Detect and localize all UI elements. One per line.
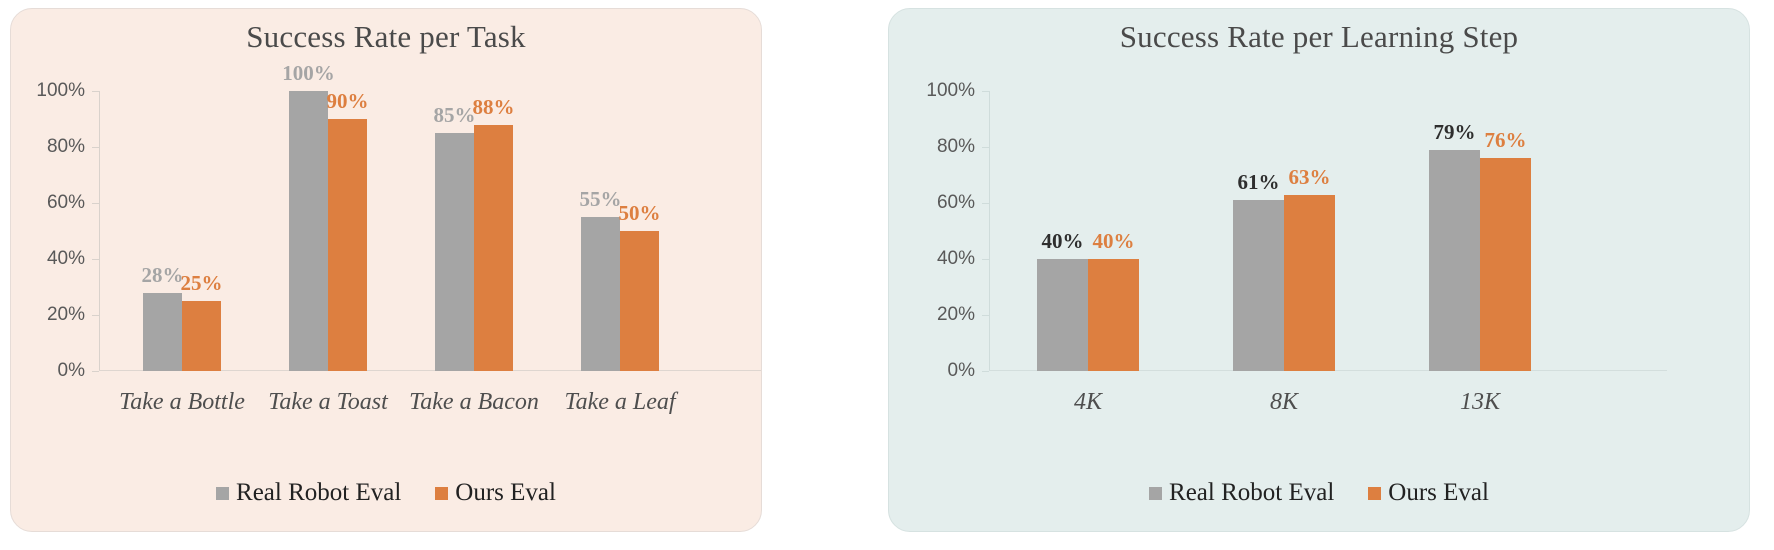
y-axis-tick [982, 371, 989, 372]
chart-panel-success-rate-per-learning-step: Success Rate per Learning Step 100%80%60… [888, 8, 1750, 532]
y-axis-tick [92, 203, 99, 204]
plot-area-left: 100%80%60%40%20%0%28%25%100%90%85%88%55%… [99, 91, 749, 371]
legend-right: Real Robot Eval Ours Eval [889, 479, 1749, 507]
bar-value-label: 61% [1238, 170, 1280, 195]
y-axis-tick-label: 100% [926, 80, 975, 102]
page-title-right: Success Rate per Learning Step [889, 19, 1749, 55]
legend-swatch-icon-ours [435, 487, 448, 500]
bar-ours [328, 119, 367, 371]
plot-area-right: 100%80%60%40%20%0%40%40%61%63%79%76% [989, 91, 1649, 371]
y-axis-tick-label: 0% [948, 360, 975, 382]
y-axis-tick [982, 203, 989, 204]
legend-item-real-robot-eval[interactable]: Real Robot Eval [216, 479, 401, 507]
bar-real [1233, 200, 1284, 371]
y-axis-line-right [989, 91, 990, 371]
y-axis-tick-label: 80% [47, 136, 85, 158]
bar-value-label: 25% [181, 271, 223, 296]
bar-real [289, 91, 328, 371]
bar-value-label: 100% [282, 61, 335, 86]
x-axis-category-label: 13K [1460, 389, 1500, 416]
y-axis-tick [92, 147, 99, 148]
y-axis-tick-label: 100% [36, 80, 85, 102]
y-axis-tick [982, 147, 989, 148]
bar-value-label: 79% [1434, 120, 1476, 145]
bar-value-label: 40% [1042, 229, 1084, 254]
y-axis-tick-label: 20% [47, 304, 85, 326]
legend-label-real: Real Robot Eval [1169, 479, 1334, 507]
x-axis-category-label: Take a Bottle [119, 389, 245, 416]
bar-value-label: 90% [327, 89, 369, 114]
bar-real [1429, 150, 1480, 371]
bar-real [143, 293, 182, 371]
y-axis-tick-label: 40% [47, 248, 85, 270]
bar-ours [474, 125, 513, 371]
bar-value-label: 76% [1485, 128, 1527, 153]
x-axis-category-label: 8K [1270, 389, 1298, 416]
bar-value-label: 85% [434, 103, 476, 128]
x-axis-category-label: Take a Leaf [564, 389, 675, 416]
legend-label-real: Real Robot Eval [236, 479, 401, 507]
legend-item-ours-eval[interactable]: Ours Eval [1368, 479, 1489, 507]
legend-swatch-icon-real [1149, 487, 1162, 500]
y-axis-tick [92, 315, 99, 316]
bar-ours [1480, 158, 1531, 371]
bar-ours [1088, 259, 1139, 371]
x-axis-category-label: Take a Toast [268, 389, 388, 416]
y-axis-tick [92, 371, 99, 372]
y-axis-tick-label: 60% [47, 192, 85, 214]
y-axis-tick [92, 91, 99, 92]
bar-value-label: 40% [1093, 229, 1135, 254]
bar-ours [1284, 195, 1335, 371]
legend-item-real-robot-eval[interactable]: Real Robot Eval [1149, 479, 1334, 507]
page-title-left: Success Rate per Task [11, 19, 761, 55]
y-axis-tick-label: 0% [58, 360, 85, 382]
y-axis-tick-label: 20% [937, 304, 975, 326]
legend-item-ours-eval[interactable]: Ours Eval [435, 479, 556, 507]
y-axis-tick [982, 91, 989, 92]
y-axis-tick [982, 315, 989, 316]
bar-real [581, 217, 620, 371]
legend-swatch-icon-real [216, 487, 229, 500]
figure-canvas: Success Rate per Task 100%80%60%40%20%0%… [0, 0, 1774, 550]
x-axis-category-label: 4K [1074, 389, 1102, 416]
y-axis-tick-label: 80% [937, 136, 975, 158]
legend-left: Real Robot Eval Ours Eval [11, 479, 761, 507]
y-axis-tick-label: 60% [937, 192, 975, 214]
legend-label-ours: Ours Eval [455, 479, 556, 507]
legend-label-ours: Ours Eval [1388, 479, 1489, 507]
bar-value-label: 55% [580, 187, 622, 212]
y-axis-tick [92, 259, 99, 260]
bar-ours [620, 231, 659, 371]
x-axis-category-label: Take a Bacon [409, 389, 539, 416]
bar-value-label: 28% [142, 263, 184, 288]
bar-value-label: 88% [473, 95, 515, 120]
bar-ours [182, 301, 221, 371]
bar-real [1037, 259, 1088, 371]
y-axis-tick-label: 40% [937, 248, 975, 270]
bar-value-label: 63% [1289, 165, 1331, 190]
y-axis-tick [982, 259, 989, 260]
chart-panel-success-rate-per-task: Success Rate per Task 100%80%60%40%20%0%… [10, 8, 762, 532]
bar-real [435, 133, 474, 371]
bar-value-label: 50% [619, 201, 661, 226]
legend-swatch-icon-ours [1368, 487, 1381, 500]
y-axis-line-left [99, 91, 100, 371]
